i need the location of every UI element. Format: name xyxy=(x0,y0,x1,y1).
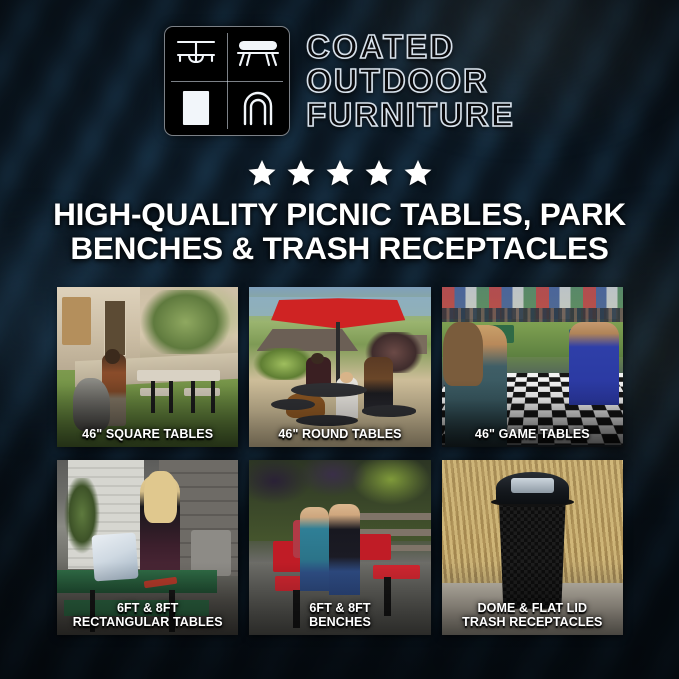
four-quadrant-furniture-logo xyxy=(164,26,290,136)
wordmark-line-1: COATED xyxy=(306,31,515,63)
photo-dome-opening xyxy=(511,478,555,494)
star-icon xyxy=(364,158,394,188)
headline-line-2: BENCHES & TRASH RECEPTACLES xyxy=(30,232,649,266)
photo-person-head xyxy=(340,372,353,383)
photo-round-seat xyxy=(362,405,416,416)
product-photo-round-tables xyxy=(249,287,430,447)
star-icon xyxy=(325,158,355,188)
photo-window xyxy=(104,300,126,356)
photo-table-leg xyxy=(169,381,173,413)
photo-soil-bag xyxy=(92,532,139,580)
advertisement-banner: COATED OUTDOOR FURNITURE HIGH-QUALITY PI… xyxy=(0,0,679,679)
bike-rack-icon xyxy=(227,81,289,135)
product-photo-square-tables xyxy=(57,287,238,447)
photo-person-head xyxy=(105,349,120,363)
photo-person-woman xyxy=(364,357,393,411)
product-caption: 46" ROUND TABLES xyxy=(253,428,426,442)
photo-person-boy-right xyxy=(329,504,360,595)
photo-round-seat xyxy=(296,415,358,426)
star-icon xyxy=(247,158,277,188)
headline: HIGH-QUALITY PICNIC TABLES, PARK BENCHES… xyxy=(30,198,649,265)
photo-table-leg xyxy=(211,381,215,413)
brand-wordmark: COATED OUTDOOR FURNITURE xyxy=(306,31,515,130)
product-caption: 46" GAME TABLES xyxy=(446,428,619,442)
photo-person-boy xyxy=(569,322,620,405)
photo-person-boy-left xyxy=(300,507,329,591)
product-tile-rectangular-tables[interactable]: 6FT & 8FT RECTANGULAR TABLES xyxy=(57,460,238,635)
photo-table-leg xyxy=(151,381,155,413)
product-tile-square-tables[interactable]: 46" SQUARE TABLES xyxy=(57,287,238,447)
product-tile-game-tables[interactable]: 46" GAME TABLES xyxy=(442,287,623,447)
photo-table-top xyxy=(137,370,220,381)
photo-trash-can-body xyxy=(496,500,569,609)
product-caption: 46" SQUARE TABLES xyxy=(61,428,234,442)
photo-person-hair xyxy=(443,322,483,386)
product-caption: 6FT & 8FT RECTANGULAR TABLES xyxy=(61,602,234,629)
product-tile-trash-receptacles[interactable]: DOME & FLAT LID TRASH RECEPTACLES xyxy=(442,460,623,635)
photo-garage-door xyxy=(62,297,91,345)
photo-trees xyxy=(140,290,231,354)
product-caption: DOME & FLAT LID TRASH RECEPTACLES xyxy=(446,602,619,629)
wordmark-line-3: FURNITURE xyxy=(306,99,515,131)
product-tile-round-tables[interactable]: 46" ROUND TABLES xyxy=(249,287,430,447)
star-icon xyxy=(286,158,316,188)
picnic-table-icon xyxy=(165,27,227,81)
product-grid: 46" SQUARE TABLES xyxy=(57,287,623,650)
headline-line-1: HIGH-QUALITY PICNIC TABLES, PARK xyxy=(53,196,626,232)
wordmark-line-2: OUTDOOR xyxy=(306,65,515,97)
photo-round-seat xyxy=(271,399,315,410)
product-caption: 6FT & 8FT BENCHES xyxy=(253,602,426,629)
photo-dog xyxy=(73,378,109,431)
star-rating xyxy=(0,158,679,188)
trash-receptacle-icon xyxy=(165,81,227,135)
park-bench-icon xyxy=(227,27,289,81)
photo-table-leg xyxy=(191,381,195,413)
product-tile-benches[interactable]: 6FT & 8FT BENCHES xyxy=(249,460,430,635)
photo-ac-unit xyxy=(191,530,231,576)
photo-bench-left xyxy=(140,388,173,396)
photo-person-hair xyxy=(144,471,177,524)
product-photo-game-tables xyxy=(442,287,623,447)
photo-person-head xyxy=(311,353,324,364)
photo-bench-seat-right xyxy=(373,565,420,579)
brand-logo-row: COATED OUTDOOR FURNITURE xyxy=(0,26,679,136)
star-icon xyxy=(403,158,433,188)
